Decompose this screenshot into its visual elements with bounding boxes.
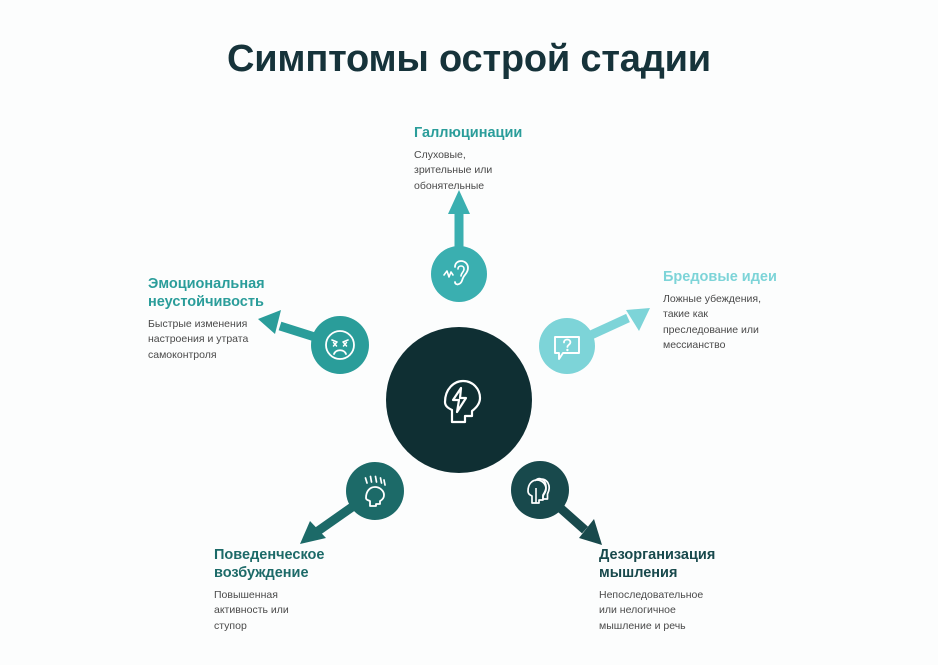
- center-node[interactable]: [386, 327, 532, 473]
- node-emotional[interactable]: [311, 316, 369, 374]
- heading-emotional: Эмоциональная неустойчивость: [148, 275, 298, 311]
- block-behavior: Поведенческое возбуждение Повышенная акт…: [214, 546, 394, 634]
- description-delusions: Ложные убеждения, такие как преследовани…: [663, 292, 833, 353]
- sad-face-icon: [322, 327, 358, 363]
- description-emotional: Быстрые изменения настроения и утрата са…: [148, 317, 298, 363]
- block-emotional: Эмоциональная неустойчивость Быстрые изм…: [148, 275, 298, 363]
- description-behavior: Повышенная активность или ступор: [214, 588, 394, 634]
- speech-bubble-question-icon: [550, 329, 584, 363]
- page-title: Симптомы острой стадии: [0, 38, 938, 81]
- heading-delusions: Бредовые идеи: [663, 268, 833, 286]
- node-hallucinations[interactable]: [431, 246, 487, 302]
- node-delusions[interactable]: [539, 318, 595, 374]
- heading-hallucinations: Галлюцинации: [414, 124, 604, 142]
- head-lightning-icon: [428, 369, 490, 431]
- block-thinking: Дезорганизация мышления Непоследовательн…: [599, 546, 789, 634]
- infographic-canvas: Симптомы острой стадии: [0, 0, 938, 665]
- head-brain-icon: [522, 472, 558, 508]
- block-delusions: Бредовые идеи Ложные убеждения, такие ка…: [663, 268, 833, 353]
- description-thinking: Непоследовательное или нелогичное мышлен…: [599, 588, 789, 634]
- node-behavior[interactable]: [346, 462, 404, 520]
- heading-thinking: Дезорганизация мышления: [599, 546, 789, 582]
- description-hallucinations: Слуховые, зрительные или обонятельные: [414, 148, 604, 194]
- block-hallucinations: Галлюцинации Слуховые, зрительные или об…: [414, 124, 604, 194]
- head-agitation-icon: [357, 473, 393, 509]
- ear-sound-icon: [442, 257, 476, 291]
- heading-behavior: Поведенческое возбуждение: [214, 546, 394, 582]
- node-thinking[interactable]: [511, 461, 569, 519]
